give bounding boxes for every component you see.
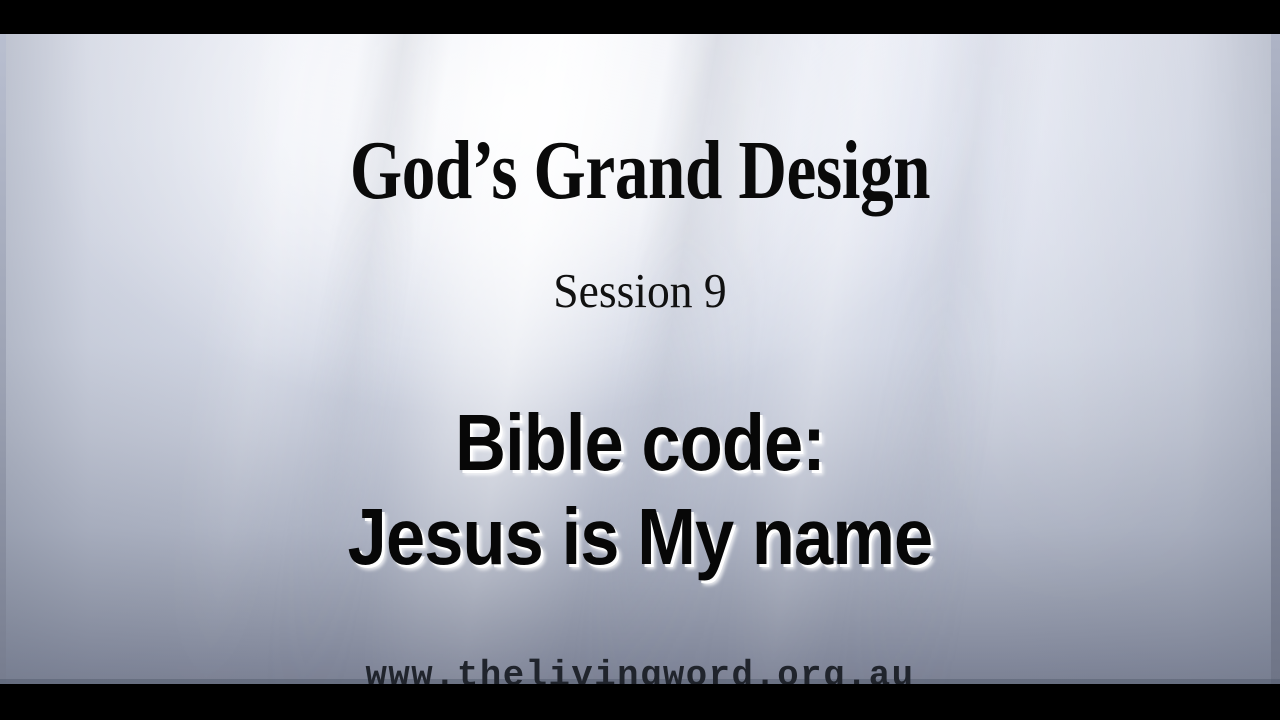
letterbox-bar-top	[0, 0, 1280, 34]
video-frame: God’s Grand Design Session 9 Bible code:…	[0, 0, 1280, 720]
slide-website-url: www.thelivingword.org.au	[6, 658, 1273, 684]
slide-headline-line-2: Jesus is My name	[77, 490, 1203, 584]
letterbox-bar-bottom	[0, 684, 1280, 720]
slide-headline: Bible code: Jesus is My name	[77, 396, 1203, 584]
presentation-slide: God’s Grand Design Session 9 Bible code:…	[0, 34, 1280, 684]
slide-headline-line-1: Bible code:	[77, 396, 1203, 490]
slide-content: God’s Grand Design Session 9 Bible code:…	[0, 34, 1280, 684]
slide-title: God’s Grand Design	[128, 129, 1152, 213]
slide-session-label: Session 9	[45, 266, 1235, 315]
